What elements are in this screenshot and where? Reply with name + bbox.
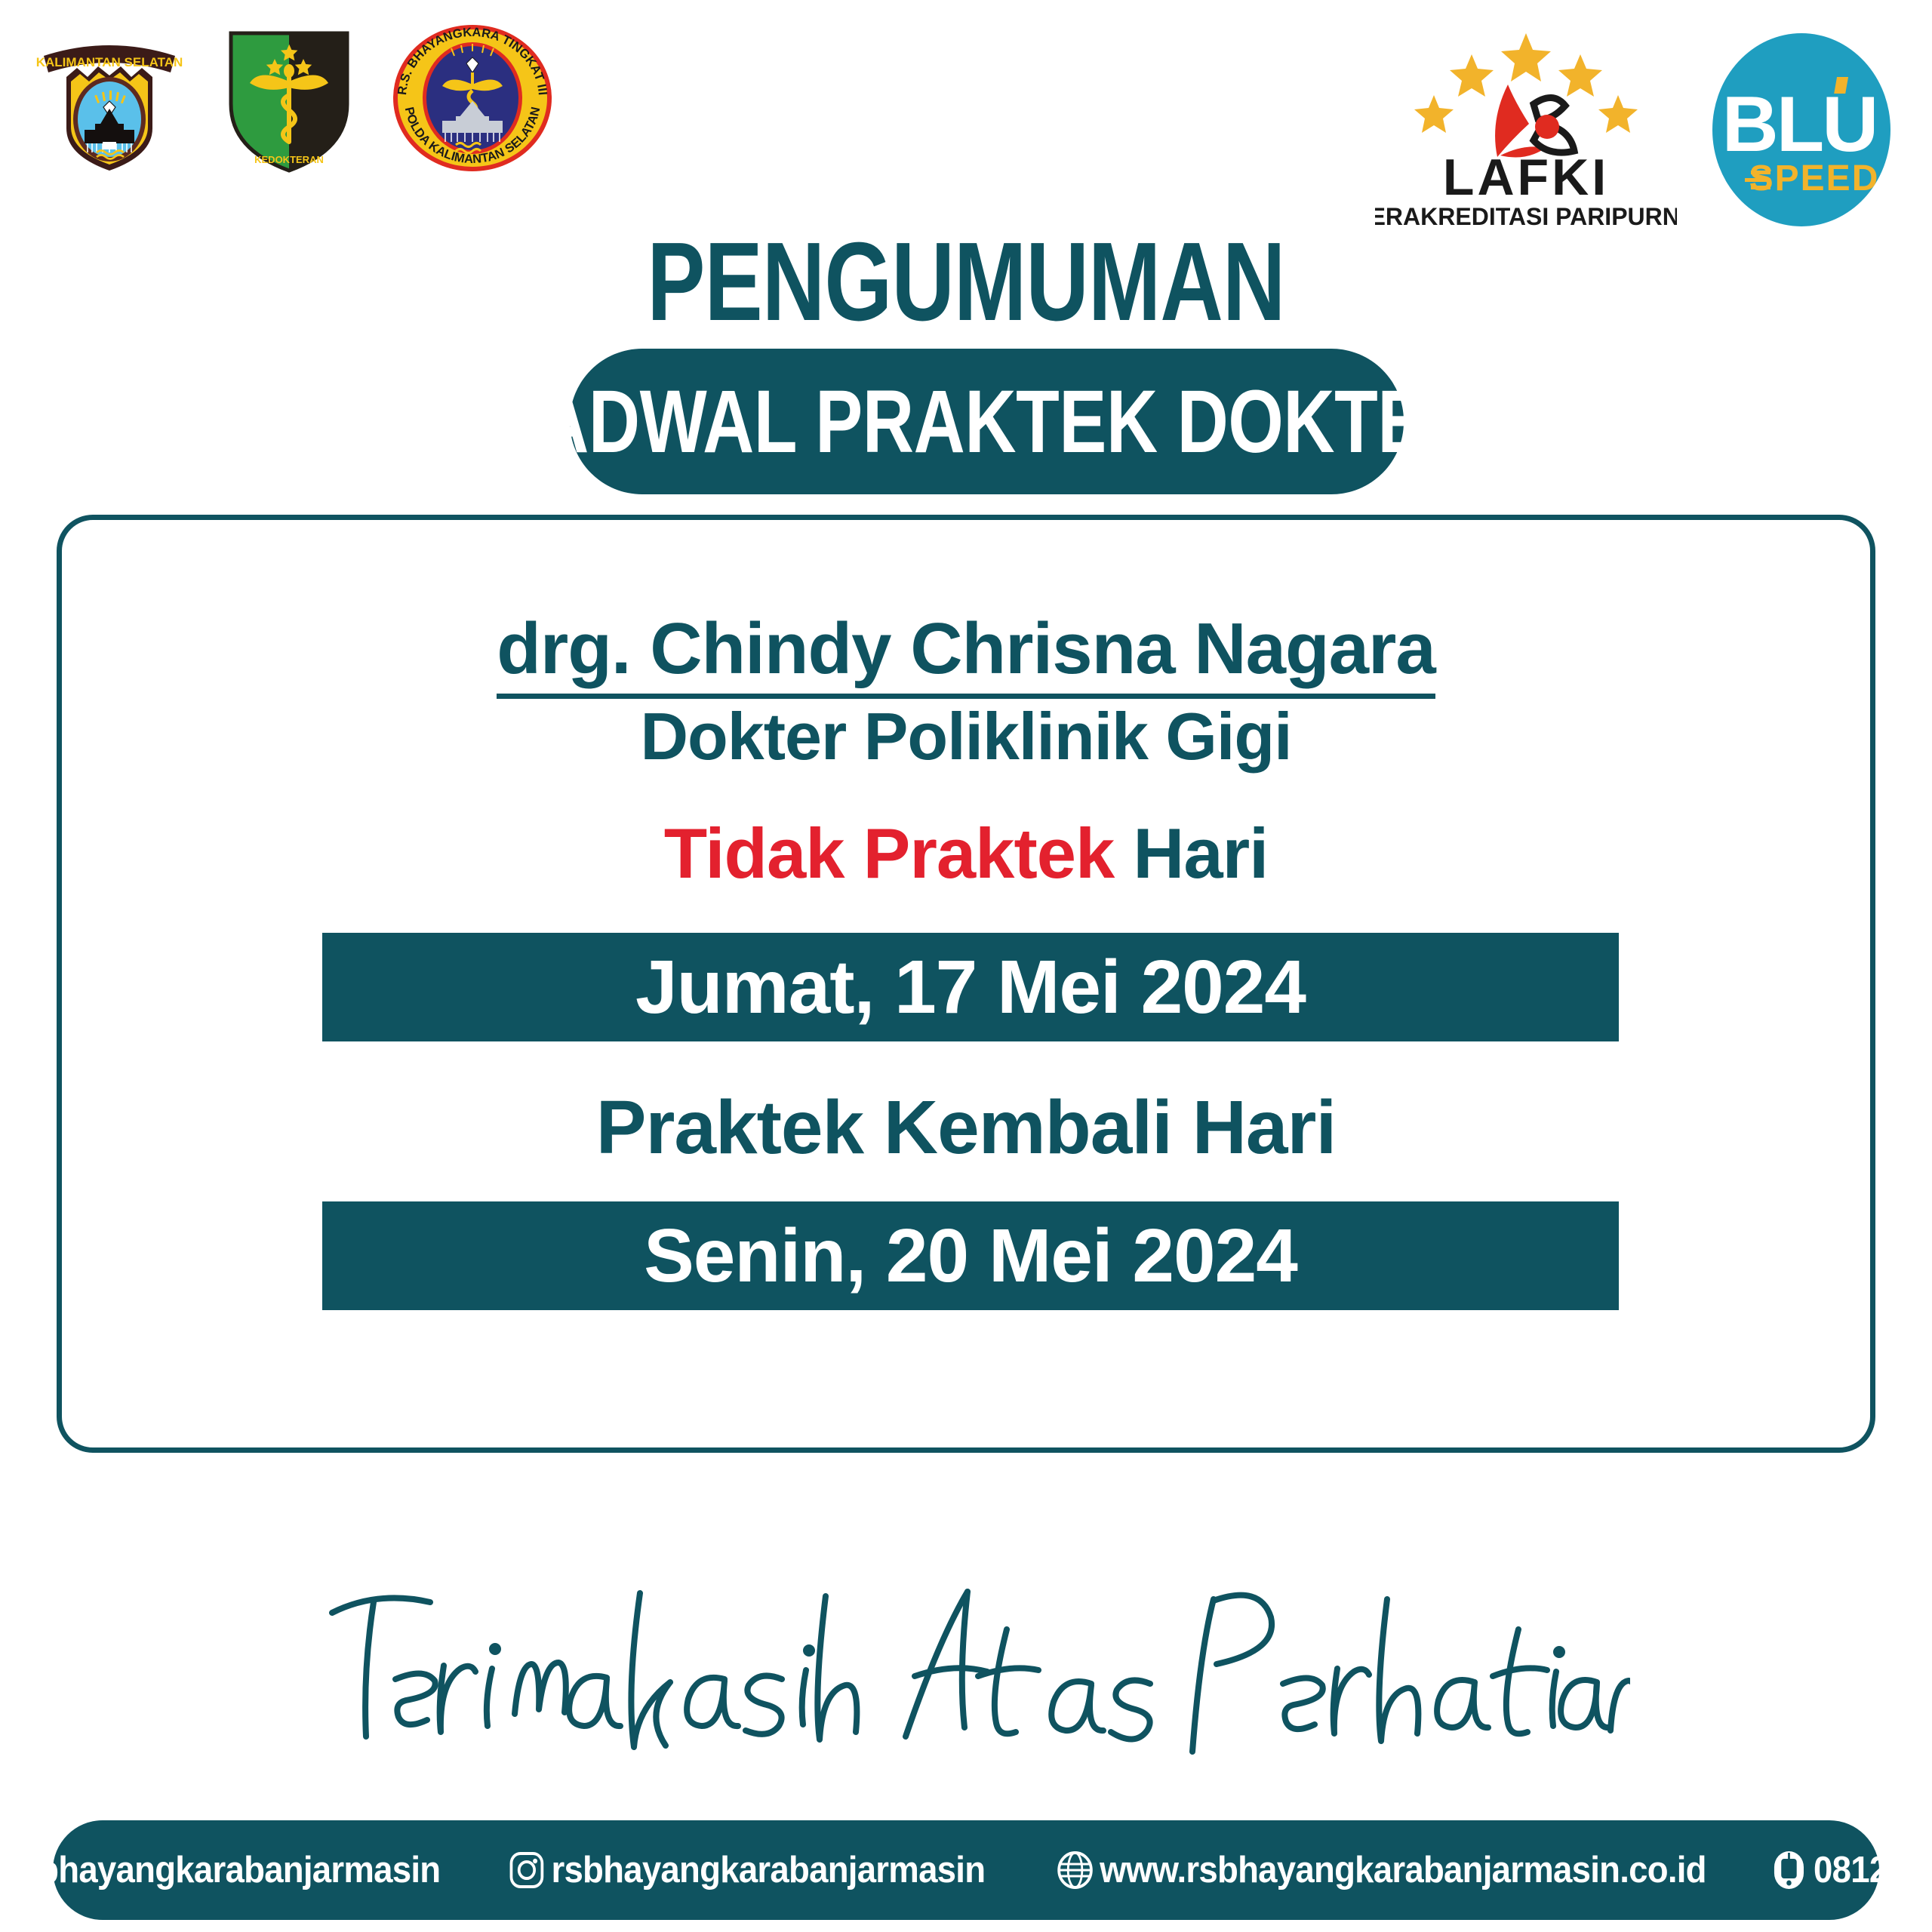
left-logo-group: KALIMANTAN SELATAN xyxy=(30,23,555,177)
absent-date-band: Jumat, 17 Mei 2024 xyxy=(322,933,1619,1041)
contact-facebook[interactable]: rumkit.bhayangkarabanjarmasin xyxy=(0,1849,440,1891)
announcement-poster: KALIMANTAN SELATAN xyxy=(0,0,1932,1932)
return-label: Praktek Kembali Hari xyxy=(0,1088,1932,1168)
polda-kalsel-emblem: KALIMANTAN SELATAN xyxy=(30,23,189,177)
right-logo-group: LAFKI TERAKREDITASI PARIPURNA BLU SPEED xyxy=(1375,23,1896,245)
status-badge: Tidak Praktek xyxy=(664,814,1115,893)
lafki-logo: LAFKI TERAKREDITASI PARIPURNA xyxy=(1375,23,1677,245)
svg-text:KEDOKTERAN: KEDOKTERAN xyxy=(254,154,324,165)
contact-phone-text: 0812-5790-6306 xyxy=(1814,1849,1932,1891)
svg-text:KALIMANTAN SELATAN: KALIMANTAN SELATAN xyxy=(36,55,183,69)
blu-speed-logo: BLU SPEED xyxy=(1707,30,1896,238)
subtitle-text: JADWAL PRAKTEK DOKTER xyxy=(498,377,1476,466)
doctor-role: Dokter Poliklinik Gigi xyxy=(0,702,1932,771)
doctor-name: drg. Chindy Chrisna Nagara xyxy=(0,611,1932,688)
contact-instagram[interactable]: rsbhayangkarabanjarmasin xyxy=(508,1849,985,1891)
rs-bhayangkara-emblem: R.S. BHAYANGKARA TINGKAT III POLDA KALIM… xyxy=(389,23,555,177)
contact-website-text: www.rsbhayangkarabanjarmasin.co.id xyxy=(1100,1849,1706,1891)
footer-contact-bar: rumkit.bhayangkarabanjarmasin rsbhayangk… xyxy=(53,1820,1879,1920)
contact-instagram-text: rsbhayangkarabanjarmasin xyxy=(552,1849,986,1891)
return-date-text: Senin, 20 Mei 2024 xyxy=(644,1218,1297,1294)
phone-icon xyxy=(1770,1850,1808,1890)
return-date-band: Senin, 20 Mei 2024 xyxy=(322,1201,1619,1310)
instagram-icon xyxy=(508,1850,546,1890)
doctor-name-text: drg. Chindy Chrisna Nagara xyxy=(497,608,1435,699)
contact-phone[interactable]: 0812-5790-6306 xyxy=(1770,1849,1932,1891)
svg-text:SPEED: SPEED xyxy=(1749,158,1880,198)
svg-text:LAFKI: LAFKI xyxy=(1443,149,1609,206)
globe-icon xyxy=(1057,1850,1094,1890)
svg-text:BLU: BLU xyxy=(1722,81,1877,168)
status-suffix: Hari xyxy=(1114,814,1268,893)
thanks-message xyxy=(0,1566,1932,1792)
contact-website[interactable]: www.rsbhayangkarabanjarmasin.co.id xyxy=(1057,1849,1706,1891)
thanks-script-icon xyxy=(302,1566,1630,1792)
status-line: Tidak Praktek Hari xyxy=(0,817,1932,891)
kedokteran-kesehatan-emblem: KEDOKTERAN xyxy=(217,23,361,177)
page-title: PENGUMUMAN xyxy=(213,226,1720,338)
absent-date-text: Jumat, 17 Mei 2024 xyxy=(635,949,1306,1025)
subtitle-band: JADWAL PRAKTEK DOKTER xyxy=(570,349,1404,494)
contact-facebook-text: rumkit.bhayangkarabanjarmasin xyxy=(0,1849,440,1891)
